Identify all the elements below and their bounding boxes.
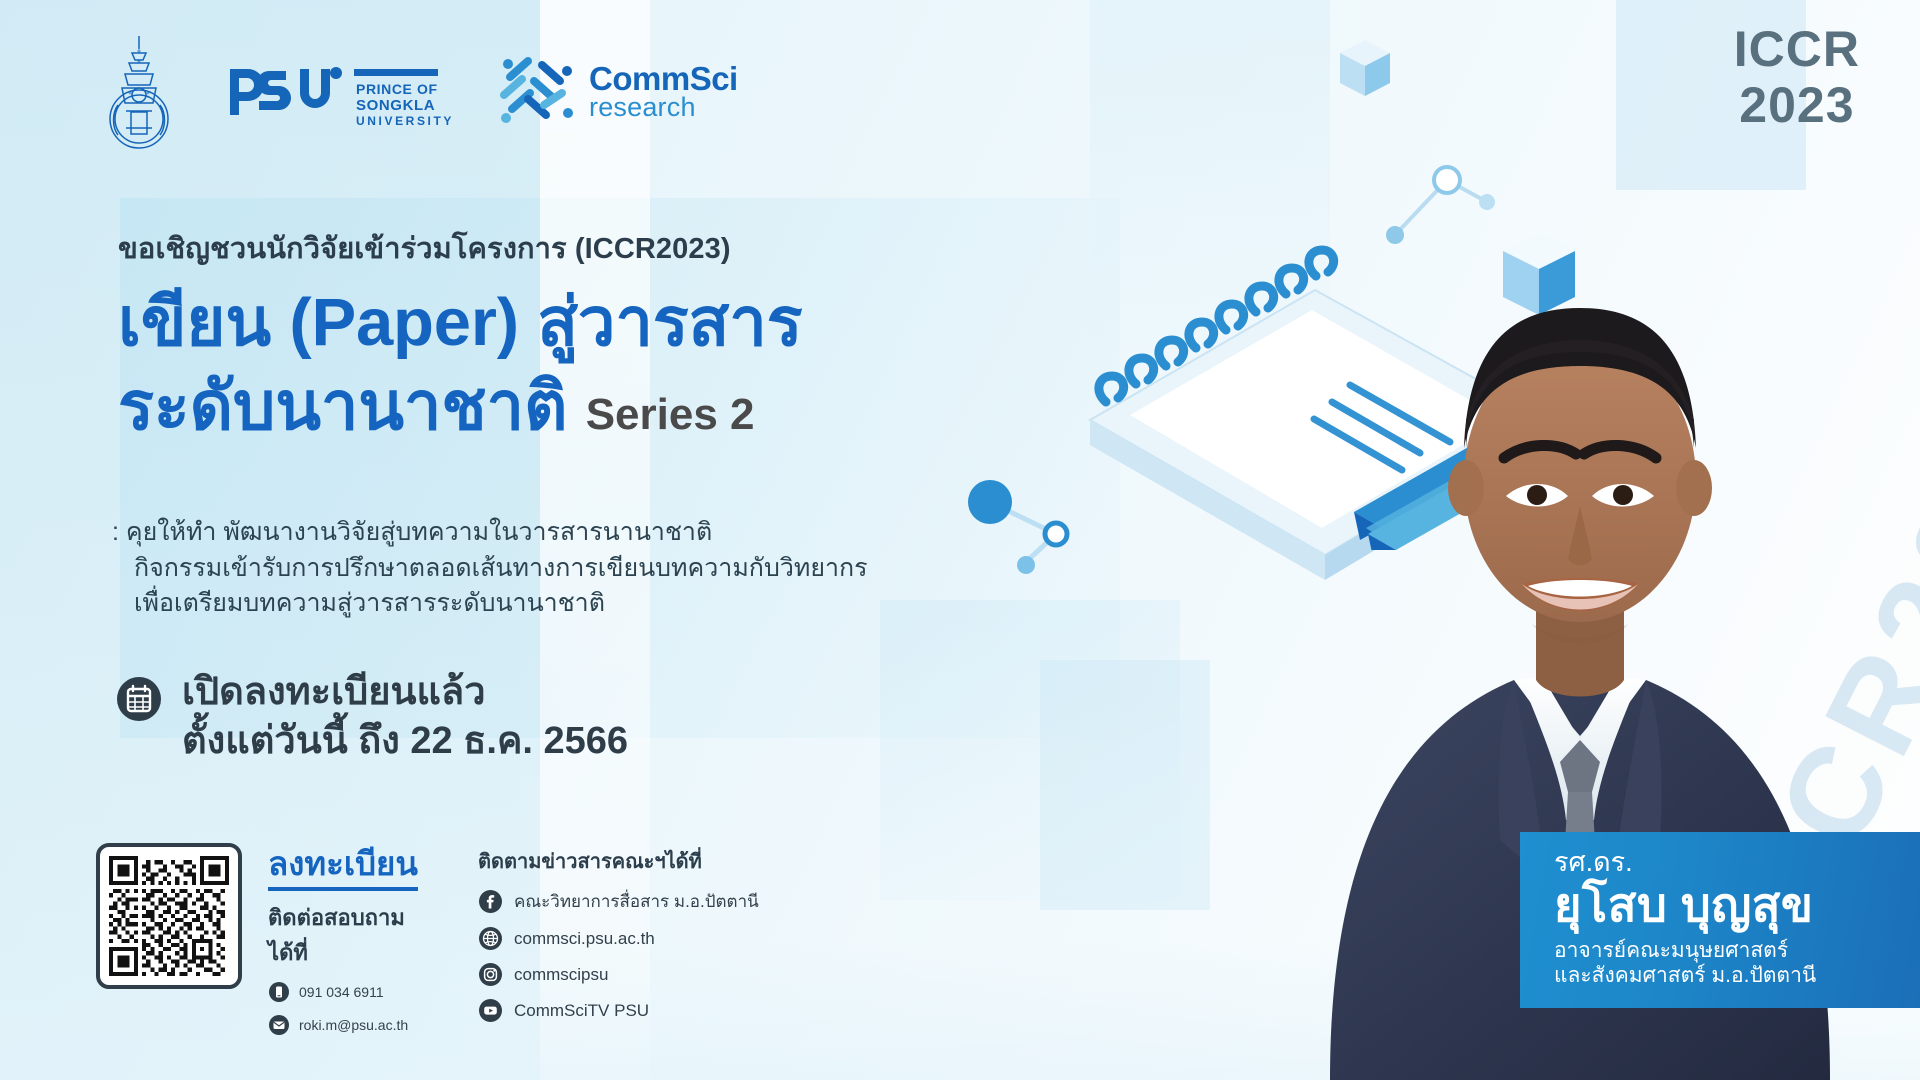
date-line-2: ตั้งแต่วันนี้ ถึง 22 ธ.ค. 2566 [182,717,628,766]
youtube-icon [478,998,503,1023]
hero-illustration-area: รศ.ดร. ยุโสบ บุญสุข อาจารย์คณะมนุษยศาสตร… [1020,0,1920,1080]
registration-column: ลงทะเบียน ติดต่อสอบถามได้ที่ 091 034 691… [268,843,436,1036]
speaker-prefix: รศ.ดร. [1554,848,1892,878]
lead-paragraph: : คุยให้ทำ พัฒนางานวิจัยสู่บทความในวารสา… [112,515,932,622]
psu-crest-icon [96,33,182,151]
headline-line-2-wrap: ระดับนานาชาติ Series 2 [118,365,1078,449]
cube-icon-small [1338,38,1392,100]
headline-block: ขอเชิญชวนนักวิจัยเข้าร่วมโครงการ (ICCR20… [118,225,1078,449]
psu-line-2: SONGKLA [356,97,435,114]
date-text: เปิดลงทะเบียนแล้ว ตั้งแต่วันนี้ ถึง 22 ธ… [182,668,628,765]
social-heading: ติดตามข่าวสารคณะฯได้ที่ [478,845,759,877]
facebook-icon [478,889,503,914]
logo-row: PRINCE OF SONGKLA UNIVERSITY [96,32,738,152]
headline-main: เขียน (Paper) สู่วารสาร ระดับนานาชาติ Se… [118,281,1078,449]
social-label-website: commsci.psu.ac.th [514,929,655,949]
social-label-youtube: CommSciTV PSU [514,1001,649,1021]
registration-subtitle: ติดต่อสอบถามได้ที่ [268,900,436,970]
psu-wordmark-text: PRINCE OF SONGKLA UNIVERSITY [356,55,454,130]
social-item-instagram[interactable]: commscipsu [478,962,759,987]
headline-line-2: ระดับนานาชาติ [118,369,567,444]
social-item-youtube[interactable]: CommSciTV PSU [478,998,759,1023]
commsci-word-sub: research [589,95,738,121]
headline-eyebrow: ขอเชิญชวนนักวิจัยเข้าร่วมโครงการ (ICCR20… [118,225,1078,271]
social-column: ติดตามข่าวสารคณะฯได้ที่ คณะวิทยาการสื่อส… [478,843,759,1023]
social-item-facebook[interactable]: คณะวิทยาการสื่อสาร ม.อ.ปัตตานี [478,888,759,915]
speaker-name: ยุโสบ บุญสุข [1554,879,1892,932]
social-label-instagram: commscipsu [514,965,608,985]
instagram-icon [478,962,503,987]
molecule-icon-left [960,470,1110,580]
social-item-website[interactable]: commsci.psu.ac.th [478,926,759,951]
psu-line-1: PRINCE OF [356,81,438,97]
phone-row[interactable]: 091 034 6911 [268,981,436,1003]
globe-icon [478,926,503,951]
qr-code-image [109,856,229,976]
social-label-facebook: คณะวิทยาการสื่อสาร ม.อ.ปัตตานี [514,888,759,915]
lead-line-2: กิจกรรมเข้ารับการปรึกษาตลอดเส้นทางการเขี… [112,551,932,587]
qr-code[interactable] [96,843,242,989]
psu-line-3: UNIVERSITY [356,114,454,128]
commsci-logo: CommSci research [498,55,738,129]
psu-monogram-icon [226,63,344,121]
phone-icon [268,981,290,1003]
speaker-role-line-2: และสังคมศาสตร์ ม.อ.ปัตตานี [1554,963,1892,988]
commsci-mark-icon [498,55,576,129]
lead-line-1: : คุยให้ทำ พัฒนางานวิจัยสู่บทความในวารสา… [112,515,932,551]
calendar-icon [116,676,162,722]
psu-logo: PRINCE OF SONGKLA UNIVERSITY [226,61,454,123]
registration-date-block: เปิดลงทะเบียนแล้ว ตั้งแต่วันนี้ ถึง 22 ธ… [116,668,628,765]
date-line-1: เปิดลงทะเบียนแล้ว [182,668,628,717]
email-address: roki.m@psu.ac.th [299,1017,408,1033]
email-row[interactable]: roki.m@psu.ac.th [268,1014,436,1036]
speaker-name-card: รศ.ดร. ยุโสบ บุญสุข อาจารย์คณะมนุษยศาสตร… [1520,832,1920,1008]
speaker-role: อาจารย์คณะมนุษยศาสตร์ และสังคมศาสตร์ ม.อ… [1554,938,1892,988]
contact-block: ลงทะเบียน ติดต่อสอบถามได้ที่ 091 034 691… [96,843,759,1036]
phone-number: 091 034 6911 [299,984,384,1000]
commsci-word-main: CommSci [589,63,738,95]
lead-line-3: เพื่อเตรียมบทความสู่วารสารระดับนานาชาติ [112,586,932,622]
email-icon [268,1014,290,1036]
commsci-wordmark: CommSci research [589,63,738,121]
headline-line-1: เขียน (Paper) สู่วารสาร [118,281,1078,365]
speaker-role-line-1: อาจารย์คณะมนุษยศาสตร์ [1554,939,1788,962]
poster-canvas: ICCR2023 [0,0,1920,1080]
registration-title[interactable]: ลงทะเบียน [268,847,418,891]
headline-series: Series 2 [586,390,755,439]
